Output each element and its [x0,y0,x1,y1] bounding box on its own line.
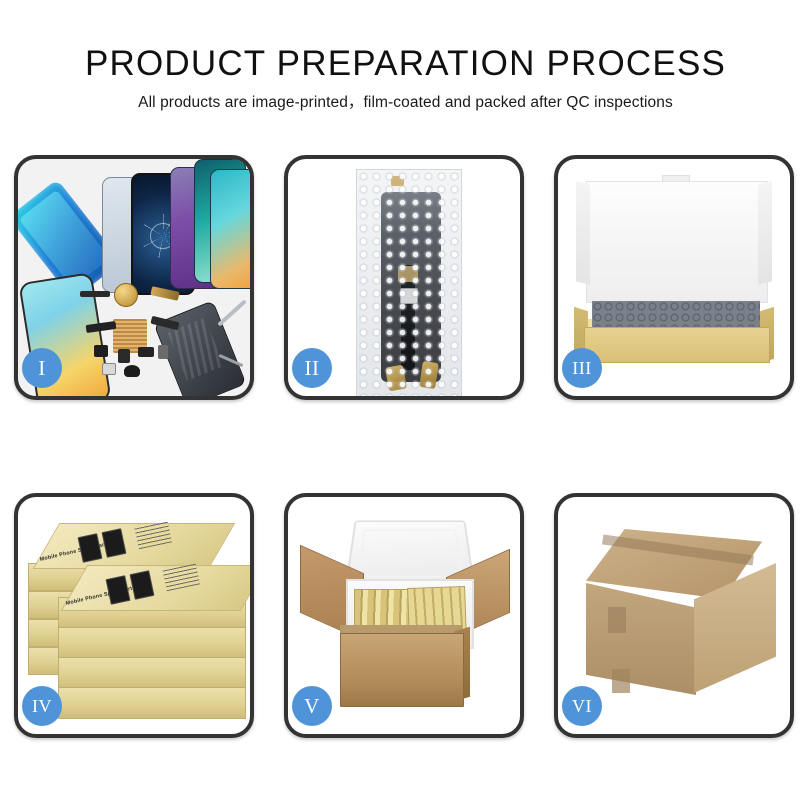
small-component-icon-5 [102,363,116,375]
small-component-icon-1 [94,345,108,357]
stacked-box-icon-front-4 [58,687,246,719]
carton-tape-icon-1 [608,607,626,633]
process-step-grid: I II [14,155,798,738]
bubble-wrap-bag-icon [356,169,462,396]
small-component-icon-4 [158,345,168,359]
step-badge-3: III [562,348,602,388]
process-step-panel-2[interactable]: II [284,155,524,400]
carton-tape-icon-2 [612,669,630,693]
white-box-lid-icon [586,181,768,303]
step-badge-4: IV [22,686,62,726]
process-step-panel-4[interactable]: Mobile Phone Spare Parts Mobile Phone Sp… [14,493,254,738]
carton-front-icon [340,633,464,707]
process-step-panel-6[interactable]: VI [554,493,794,738]
gold-coin-component-icon [114,283,138,307]
process-step-panel-5[interactable]: V [284,493,524,738]
step-badge-2: II [292,348,332,388]
process-step-panel-1[interactable]: I [14,155,254,400]
page-header: PRODUCT PREPARATION PROCESS All products… [0,0,811,113]
step-badge-6: VI [562,686,602,726]
page-title: PRODUCT PREPARATION PROCESS [0,0,811,84]
gradient-phone-icon [210,169,250,289]
bubble-wrapped-contents-icon [592,301,760,327]
top-box-lid-front-icon [61,565,250,611]
stacked-box-icon-front-2 [58,627,246,659]
small-component-icon-3 [138,347,154,357]
flex-cable-icon-1 [80,291,110,297]
tweezers-icon [217,299,246,326]
small-component-icon-2 [118,349,130,363]
gold-box-front-icon [584,327,770,363]
box-lid-right-flap-icon [758,181,772,284]
stacked-box-icon-front-3 [58,657,246,689]
gold-box-stack-icon: Mobile Phone Spare Parts Mobile Phone Sp… [24,511,250,723]
box-lid-left-flap-icon [576,181,590,284]
speaker-component-icon [124,365,140,377]
step-badge-5: V [292,686,332,726]
step-badge-1: I [22,348,62,388]
sealed-carton-front-icon [586,583,696,695]
page-subtitle: All products are image-printed，film-coat… [0,84,811,113]
bubble-texture-icon [357,170,461,396]
process-step-panel-3[interactable]: III [554,155,794,400]
